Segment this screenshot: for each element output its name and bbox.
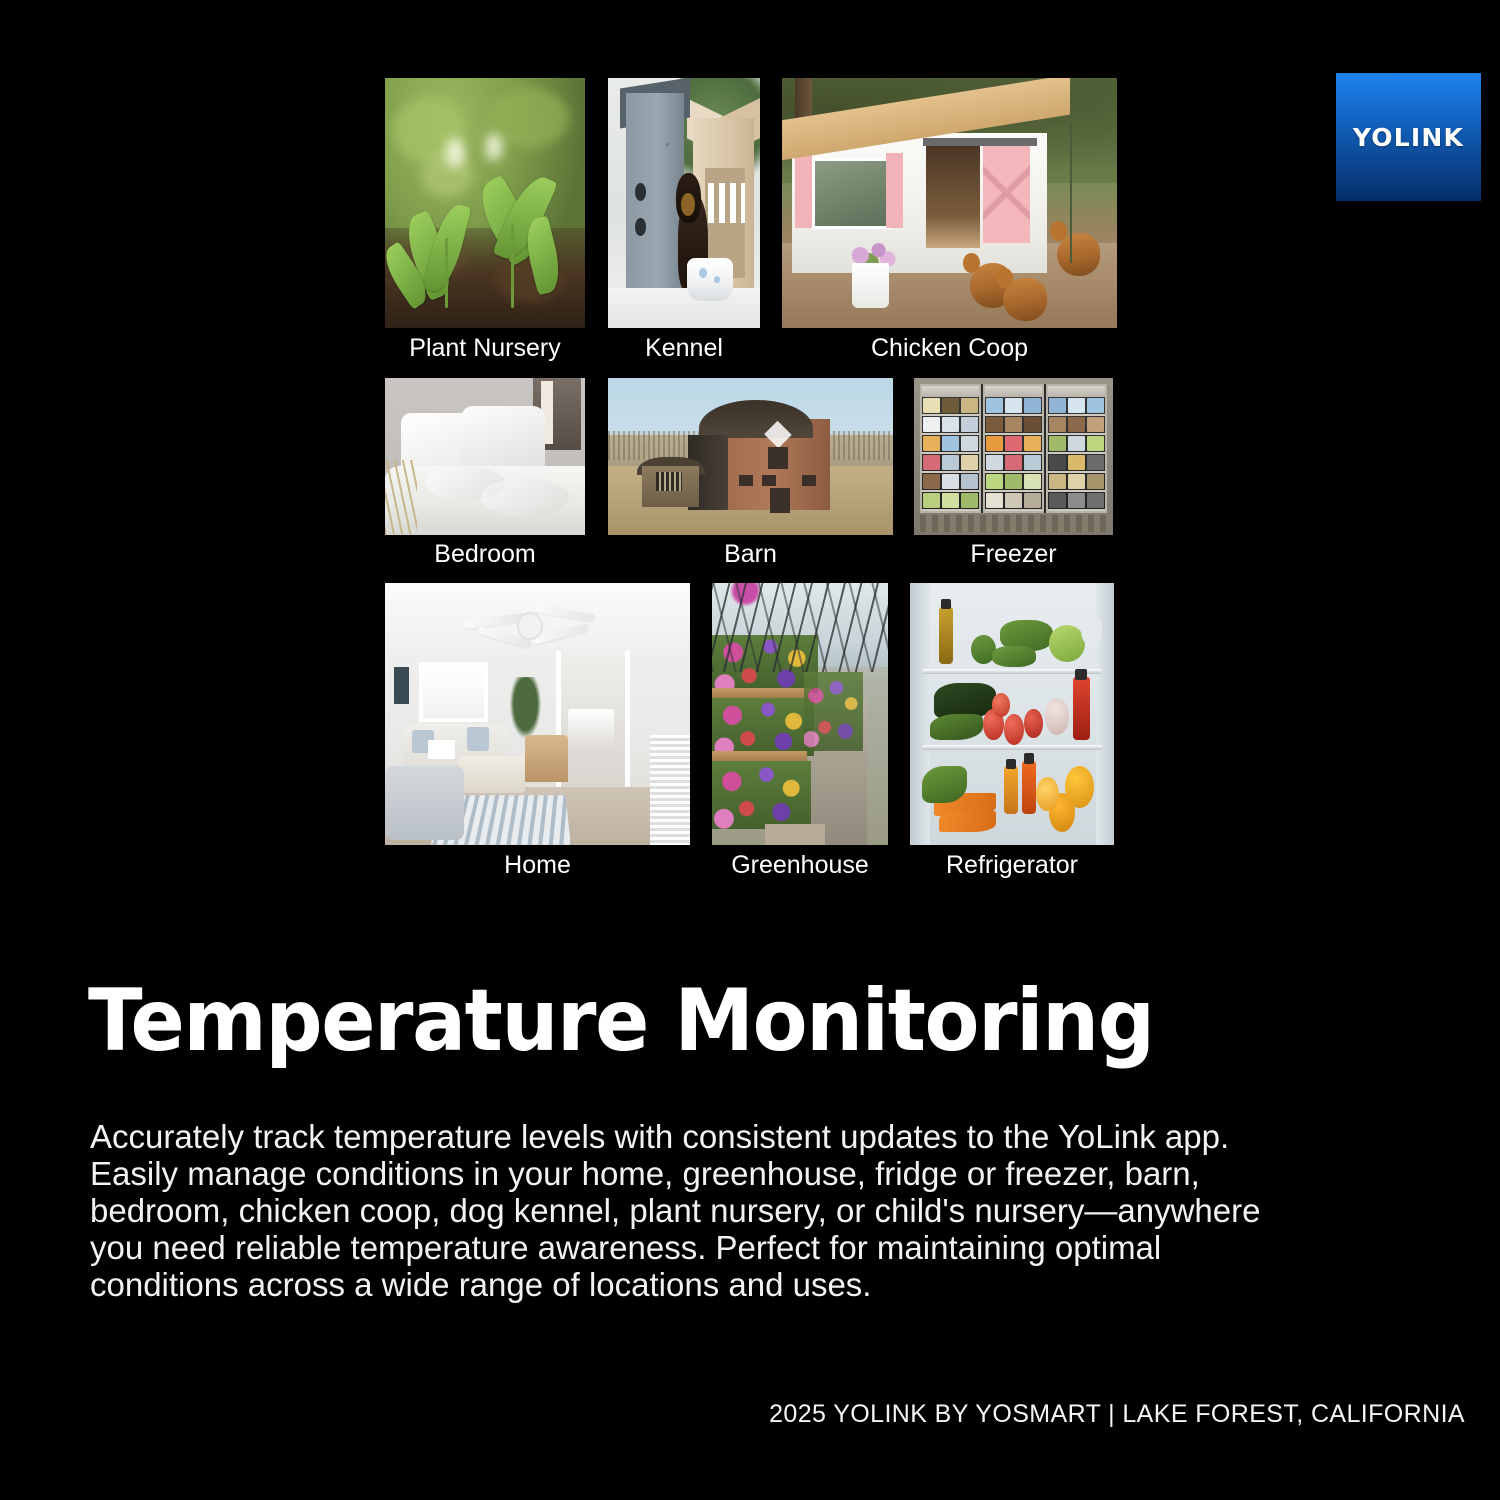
gallery-caption-freezer: Freezer [970, 540, 1056, 569]
gallery-caption-plant-nursery: Plant Nursery [409, 334, 560, 363]
plant-nursery-image [385, 78, 585, 328]
gallery-item-barn: Barn [608, 378, 893, 535]
gallery-item-freezer: Freezer [914, 378, 1113, 535]
gallery-item-plant-nursery: Plant Nursery [385, 78, 585, 328]
gallery-caption-chicken-coop: Chicken Coop [871, 334, 1028, 363]
description-paragraph: Accurately track temperature levels with… [90, 1118, 1390, 1303]
gallery-caption-barn: Barn [724, 540, 777, 569]
description-line-3: bedroom, chicken coop, dog kennel, plant… [90, 1192, 1390, 1229]
description-line-2: Easily manage conditions in your home, g… [90, 1155, 1390, 1192]
gallery-item-chicken-coop: Chicken Coop [782, 78, 1117, 328]
gallery-caption-refrigerator: Refrigerator [946, 851, 1078, 880]
gallery-item-kennel: Kennel [608, 78, 760, 328]
gallery-item-greenhouse: Greenhouse [712, 583, 888, 845]
page-title: Temperature Monitoring [88, 978, 1154, 1064]
gallery-caption-home: Home [504, 851, 571, 880]
description-line-5: conditions across a wide range of locati… [90, 1266, 1390, 1303]
description-line-4: you need reliable temperature awareness.… [90, 1229, 1390, 1266]
gallery-item-bedroom: Bedroom [385, 378, 585, 535]
home-image [385, 583, 690, 845]
freezer-image [914, 378, 1113, 535]
gallery-caption-kennel: Kennel [645, 334, 723, 363]
kennel-image [608, 78, 760, 328]
bedroom-image [385, 378, 585, 535]
chicken-coop-image [782, 78, 1117, 328]
refrigerator-image [910, 583, 1114, 845]
gallery-caption-greenhouse: Greenhouse [731, 851, 869, 880]
use-case-gallery: Plant Nursery [0, 0, 1500, 930]
gallery-item-refrigerator: Refrigerator [910, 583, 1114, 845]
footer-copyright: 2025 YOLINK BY YOSMART | LAKE FOREST, CA… [769, 1400, 1465, 1429]
description-line-1: Accurately track temperature levels with… [90, 1118, 1390, 1155]
greenhouse-image [712, 583, 888, 845]
barn-image [608, 378, 893, 535]
gallery-item-home: Home [385, 583, 690, 845]
gallery-caption-bedroom: Bedroom [434, 540, 535, 569]
